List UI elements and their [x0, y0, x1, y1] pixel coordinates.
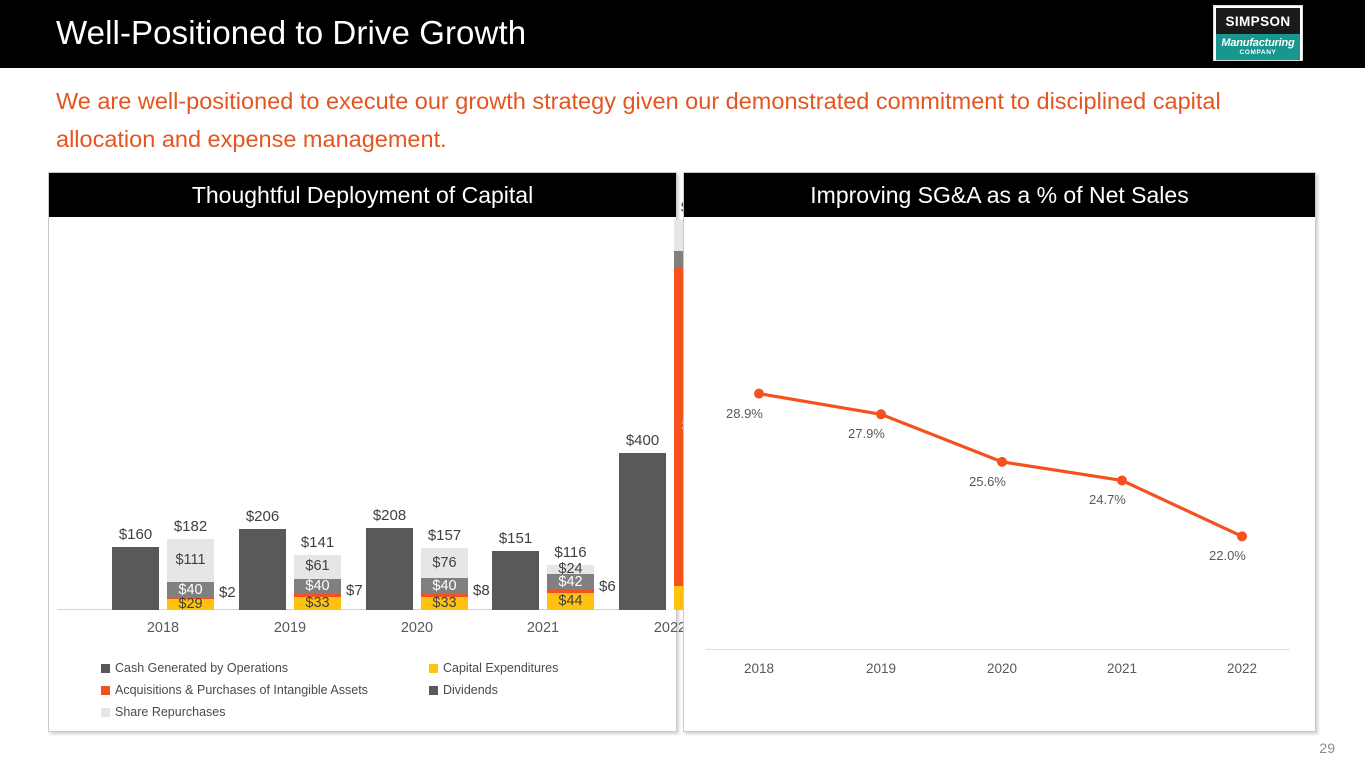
line-point-2018	[754, 389, 764, 399]
logo-manufacturing-text: Manufacturing	[1221, 38, 1294, 49]
legend-swatch-icon	[429, 686, 438, 695]
bar-xtick-2020: 2020	[356, 620, 478, 636]
slide-header: Well-Positioned to Drive Growth SIMPSON …	[0, 0, 1365, 68]
bar-value-share-repurchases-2018: $111	[167, 553, 214, 568]
legend-label: Share Repurchases	[115, 705, 225, 719]
bar-value-dividends-2021: $42	[547, 575, 594, 590]
slide-subtitle: We are well-positioned to execute our gr…	[56, 82, 1316, 158]
line-xtick-2018: 2018	[719, 661, 799, 676]
legend-label: Dividends	[443, 683, 498, 697]
line-point-2021	[1117, 475, 1127, 485]
logo-subbrand: Manufacturing COMPANY	[1216, 34, 1300, 60]
page-title: Well-Positioned to Drive Growth	[56, 14, 526, 52]
bar-value-acquisitions-purchases-of-intangible-assets-2021: $6	[599, 578, 616, 595]
slide: Well-Positioned to Drive Growth SIMPSON …	[0, 0, 1365, 768]
legend-label: Cash Generated by Operations	[115, 661, 288, 675]
legend-swatch-icon	[101, 686, 110, 695]
line-xtick-2022: 2022	[1202, 661, 1282, 676]
bar-label-total-2021: $116	[547, 544, 594, 561]
panel-right-body: 28.9%201827.9%201925.6%202024.7%202122.0…	[684, 217, 1315, 731]
panel-sga-percent: Improving SG&A as a % of Net Sales 28.9%…	[683, 172, 1316, 732]
bar-cash-generated-2019	[239, 529, 286, 610]
line-value-label-2019: 27.9%	[848, 426, 885, 441]
bar-xtick-2021: 2021	[482, 620, 604, 636]
line-value-label-2022: 22.0%	[1209, 548, 1246, 563]
logo-brand-text: SIMPSON	[1216, 8, 1300, 34]
line-point-2020	[997, 457, 1007, 467]
legend-swatch-icon	[429, 664, 438, 673]
bar-xtick-2019: 2019	[229, 620, 351, 636]
legend-item-cash-generated-by-operations[interactable]: Cash Generated by Operations	[101, 661, 288, 675]
line-point-2019	[876, 409, 886, 419]
legend-swatch-icon	[101, 708, 110, 717]
line-chart: 28.9%201827.9%201925.6%202024.7%202122.0…	[684, 217, 1315, 731]
bar-xtick-2018: 2018	[102, 620, 224, 636]
line-xtick-2020: 2020	[962, 661, 1042, 676]
line-value-label-2018: 28.9%	[726, 406, 763, 421]
page-number: 29	[1319, 740, 1335, 756]
bar-value-acquisitions-purchases-of-intangible-assets-2020: $8	[473, 582, 490, 599]
line-value-label-2020: 25.6%	[969, 474, 1006, 489]
bar-label-cash-2020: $208	[366, 507, 413, 524]
bar-label-total-2020: $157	[421, 527, 468, 544]
bar-cash-generated-2022	[619, 453, 666, 610]
legend-item-acquisitions-purchases-of-intangible-assets[interactable]: Acquisitions & Purchases of Intangible A…	[101, 683, 368, 697]
bar-value-dividends-2020: $40	[421, 579, 468, 594]
panel-capital-deployment: Thoughtful Deployment of Capital $160$29…	[48, 172, 677, 732]
bar-label-cash-2019: $206	[239, 508, 286, 525]
bar-value-acquisitions-purchases-of-intangible-assets-2018: $2	[219, 584, 236, 601]
bar-chart-legend: Cash Generated by OperationsCapital Expe…	[49, 657, 676, 731]
legend-label: Capital Expenditures	[443, 661, 558, 675]
bar-label-cash-2021: $151	[492, 530, 539, 547]
bar-value-capital-expenditures-2021: $44	[547, 594, 594, 609]
bar-value-dividends-2018: $40	[167, 583, 214, 598]
logo-company-text: COMPANY	[1240, 50, 1277, 57]
bar-cash-generated-2021	[492, 551, 539, 610]
legend-swatch-icon	[101, 664, 110, 673]
bar-value-share-repurchases-2021: $24	[547, 562, 594, 577]
panel-right-title: Improving SG&A as a % of Net Sales	[684, 173, 1315, 217]
legend-item-share-repurchases[interactable]: Share Repurchases	[101, 705, 225, 719]
legend-item-dividends[interactable]: Dividends	[429, 683, 498, 697]
bar-value-capital-expenditures-2018: $29	[167, 597, 214, 612]
bar-value-share-repurchases-2020: $76	[421, 556, 468, 571]
legend-label: Acquisitions & Purchases of Intangible A…	[115, 683, 368, 697]
bar-value-dividends-2019: $40	[294, 579, 341, 594]
panel-left-body: $160$29$2$40$111$1822018$206$33$7$40$61$…	[49, 217, 676, 731]
bar-cash-generated-2018	[112, 547, 159, 610]
bar-value-share-repurchases-2019: $61	[294, 559, 341, 574]
bar-label-total-2019: $141	[294, 534, 341, 551]
bar-value-capital-expenditures-2020: $33	[421, 596, 468, 611]
line-xtick-2021: 2021	[1082, 661, 1162, 676]
bar-label-cash-2018: $160	[112, 526, 159, 543]
legend-item-capital-expenditures[interactable]: Capital Expenditures	[429, 661, 558, 675]
bar-value-capital-expenditures-2019: $33	[294, 596, 341, 611]
line-xtick-2019: 2019	[841, 661, 921, 676]
bar-label-total-2018: $182	[167, 518, 214, 535]
bar-label-cash-2022: $400	[619, 432, 666, 449]
panel-left-title: Thoughtful Deployment of Capital	[49, 173, 676, 217]
line-value-label-2021: 24.7%	[1089, 492, 1126, 507]
line-point-2022	[1237, 531, 1247, 541]
bar-value-acquisitions-purchases-of-intangible-assets-2019: $7	[346, 582, 363, 599]
bar-chart: $160$29$2$40$111$1822018$206$33$7$40$61$…	[49, 217, 676, 662]
bar-cash-generated-2020	[366, 528, 413, 610]
simpson-manufacturing-logo: SIMPSON Manufacturing COMPANY	[1213, 5, 1303, 61]
